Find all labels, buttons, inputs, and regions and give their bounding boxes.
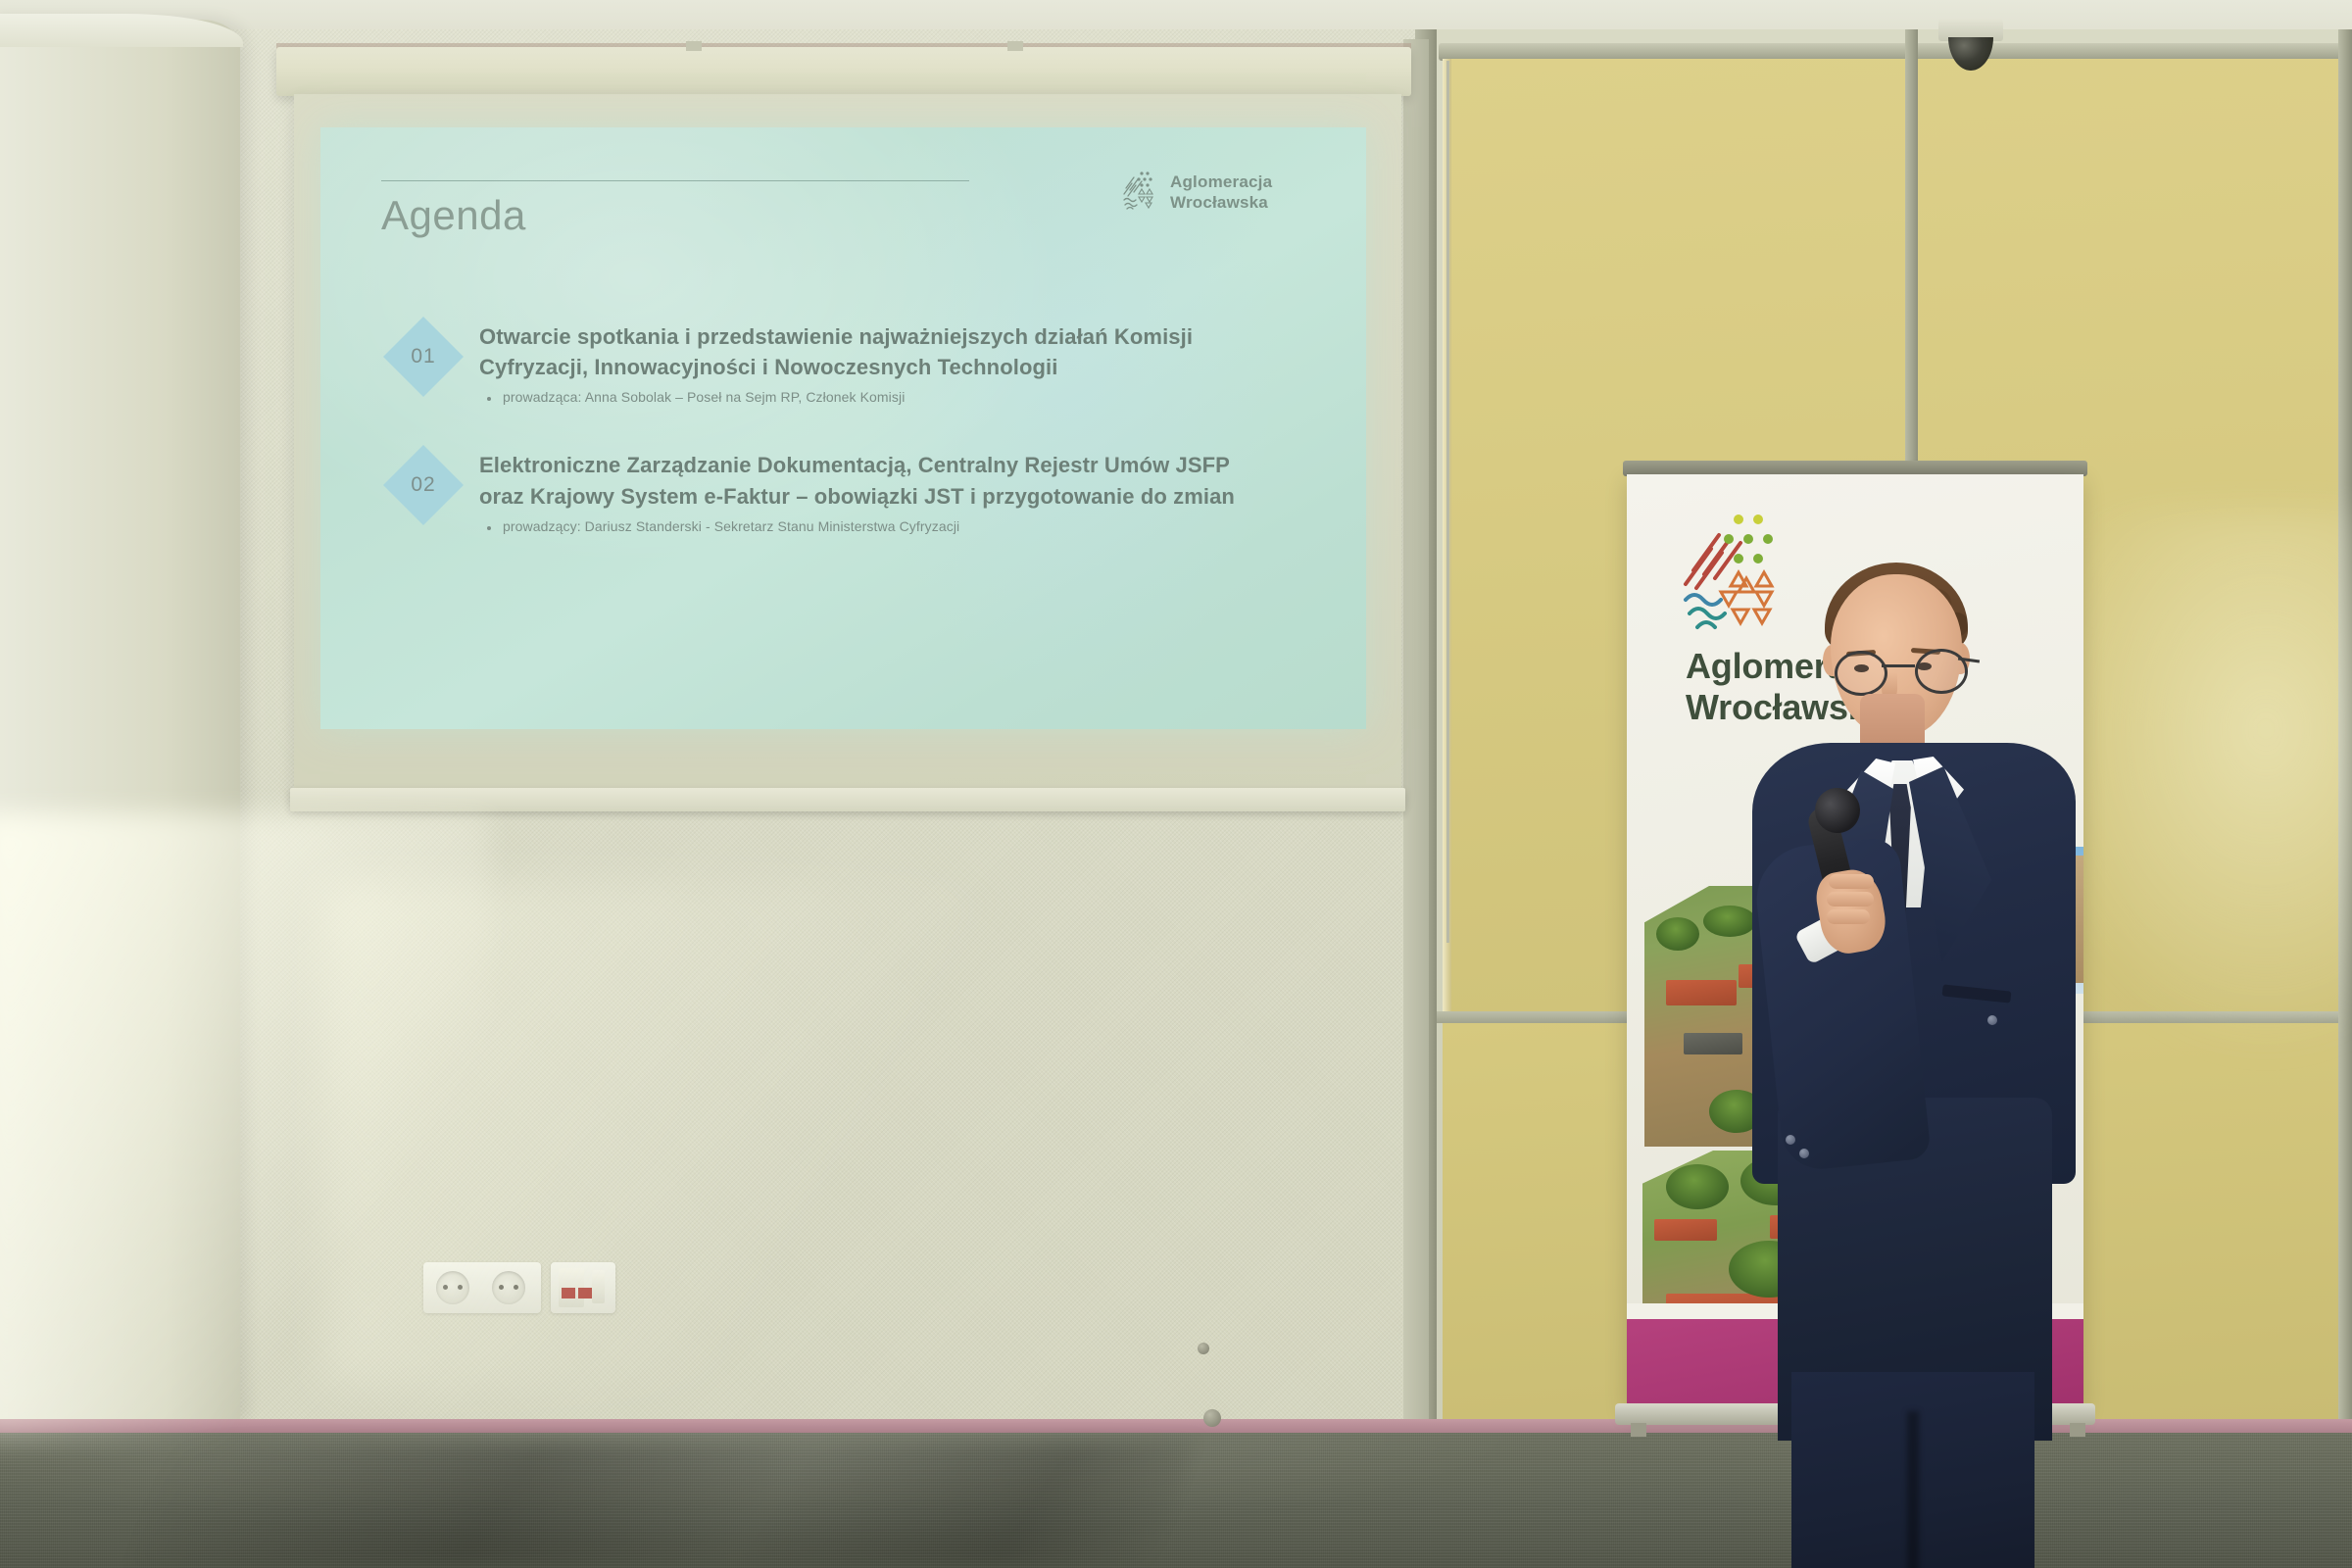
- glasses-lens-left: [1835, 651, 1887, 696]
- glasses-bridge: [1882, 664, 1915, 667]
- agenda-item-subtitle: prowadząca: Anna Sobolak – Poseł na Sejm…: [479, 389, 1320, 405]
- speaker-cuff-button-2: [1799, 1149, 1809, 1158]
- slide-title: Agenda: [381, 192, 526, 239]
- wall-divider-strip: [1403, 39, 1429, 1421]
- agenda-heading-line1: Otwarcie spotkania i przedstawienie najw…: [479, 324, 1193, 349]
- aglomeracja-wroclawska-logomark-icon: [1122, 171, 1159, 215]
- agenda-number-diamond: 02: [395, 457, 452, 514]
- screen-bracket-right: [1007, 41, 1023, 51]
- screen-bracket-left: [686, 41, 702, 51]
- projection-screen-weight-bar[interactable]: [290, 788, 1405, 811]
- speaker-glasses: [1833, 651, 1964, 690]
- projected-slide: Agenda: [320, 127, 1366, 729]
- power-outlet-socket-2[interactable]: [492, 1271, 525, 1304]
- speaker-cuff-button-1: [1786, 1135, 1795, 1145]
- speaker-person: [1735, 549, 2087, 1568]
- wall-column: [0, 20, 240, 1421]
- agenda-list: 01 Otwarcie spotkania i przedstawienie n…: [379, 319, 1320, 577]
- speaker-jacket-button: [1987, 1015, 1997, 1025]
- agenda-heading-line2: oraz Krajowy System e-Faktur – obowiązki…: [479, 481, 1320, 512]
- slide-logo-line2: Wrocławska: [1170, 193, 1272, 214]
- speaker-trouser-seam: [1907, 1411, 1919, 1568]
- agenda-item-heading: Otwarcie spotkania i przedstawienie najw…: [479, 321, 1320, 382]
- power-outlet-plate[interactable]: [423, 1262, 541, 1313]
- glasses-lens-right: [1915, 649, 1968, 694]
- agenda-item: 02 Elektroniczne Zarządzanie Dokumentacj…: [379, 448, 1320, 533]
- agenda-heading-line1: Elektroniczne Zarządzanie Dokumentacją, …: [479, 453, 1230, 477]
- network-data-port-2[interactable]: [578, 1288, 592, 1298]
- presentation-room-photo: Agenda: [0, 0, 2352, 1568]
- blind-chain[interactable]: [1446, 61, 1449, 943]
- agenda-item-number: 01: [395, 328, 452, 385]
- agenda-item-body: Otwarcie spotkania i przedstawienie najw…: [479, 319, 1320, 405]
- floor-fixture: [1203, 1409, 1221, 1427]
- window-frame-right: [2338, 29, 2352, 1419]
- speaker-finger-1: [1829, 874, 1874, 889]
- projection-screen-case: [276, 47, 1411, 96]
- slide-logo-text: Aglomeracja Wrocławska: [1170, 172, 1272, 213]
- agenda-number-diamond: 01: [395, 328, 452, 385]
- agenda-item-subtitle: prowadzący: Dariusz Standerski - Sekreta…: [479, 518, 1320, 534]
- rollup-banner-foot-left: [1631, 1423, 1646, 1437]
- network-data-port-plate[interactable]: [551, 1262, 615, 1313]
- agenda-item: 01 Otwarcie spotkania i przedstawienie n…: [379, 319, 1320, 405]
- wall-fixture-screw: [1198, 1343, 1209, 1354]
- slide-divider-rule: [381, 180, 969, 181]
- agenda-heading-line2: Cyfryzacji, Innowacyjności i Nowoczesnyc…: [479, 352, 1320, 382]
- speaker-finger-3: [1827, 909, 1870, 924]
- floor-shadow: [126, 1441, 1197, 1568]
- data-port-switch[interactable]: [592, 1270, 605, 1303]
- agenda-item-heading: Elektroniczne Zarządzanie Dokumentacją, …: [479, 450, 1320, 511]
- agenda-item-body: Elektroniczne Zarządzanie Dokumentacją, …: [479, 448, 1320, 533]
- slide-logo-line1: Aglomeracja: [1170, 172, 1272, 193]
- agenda-item-number: 02: [395, 457, 452, 514]
- network-data-port-1[interactable]: [562, 1288, 575, 1298]
- slide-logo: Aglomeracja Wrocławska: [1122, 171, 1272, 215]
- speaker-finger-2: [1827, 892, 1874, 906]
- power-outlet-socket-1[interactable]: [436, 1271, 469, 1304]
